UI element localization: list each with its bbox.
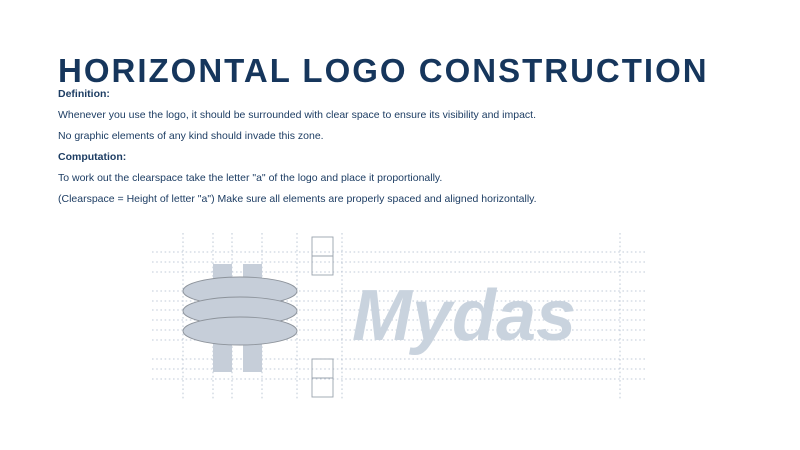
symbol-ellipse-bottom (183, 317, 297, 345)
page-title: HORIZONTAL LOGO CONSTRUCTION (58, 52, 709, 90)
symbol-bar-right (243, 264, 262, 372)
symbol-ellipse-middle (183, 297, 297, 325)
definition-line-2: No graphic elements of any kind should i… (58, 128, 718, 144)
computation-line-1: To work out the clearspace take the lett… (58, 170, 718, 186)
description-block: Definition: Whenever you use the logo, i… (58, 86, 718, 212)
logo-symbol (183, 264, 297, 372)
construction-grid (152, 233, 646, 400)
definition-label: Definition: (58, 86, 718, 102)
symbol-ellipse-top (183, 277, 297, 305)
computation-line-2: (Clearspace = Height of letter "a") Make… (58, 191, 718, 207)
symbol-bar-left (213, 264, 232, 372)
clearspace-boxes (312, 237, 333, 397)
clearspace-box-top (312, 237, 333, 275)
logo-wordmark: Mydas (352, 276, 576, 356)
definition-line-1: Whenever you use the logo, it should be … (58, 107, 718, 123)
computation-label: Computation: (58, 149, 718, 165)
slide-page: HORIZONTAL LOGO CONSTRUCTION Definition:… (0, 0, 800, 450)
clearspace-box-bottom (312, 359, 333, 397)
